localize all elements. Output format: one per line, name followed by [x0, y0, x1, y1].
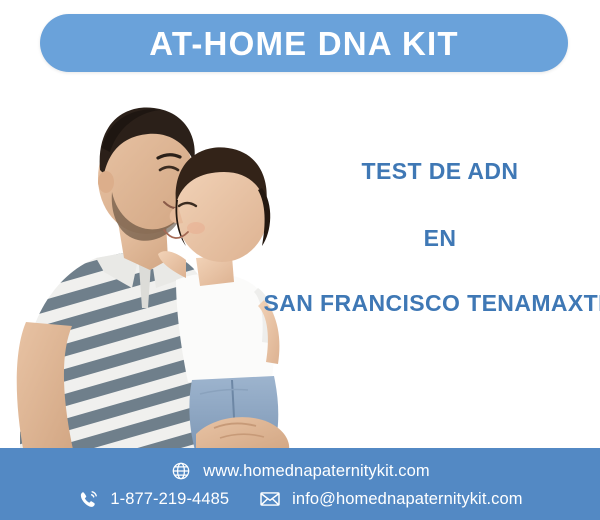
footer-item-phone[interactable]: 1-877-219-4485: [77, 488, 229, 510]
website-text: www.homednapaternitykit.com: [203, 463, 429, 480]
email-text: info@homednapaternitykit.com: [292, 491, 523, 508]
phone-text: 1-877-219-4485: [110, 491, 229, 508]
dna-test-promo-banner: AT-HOME DNA KIT: [0, 0, 600, 520]
contact-footer: www.homednapaternitykit.com 1-877-219-44…: [0, 448, 600, 520]
footer-item-email[interactable]: info@homednapaternitykit.com: [259, 488, 523, 510]
father-and-child-photo: [0, 82, 312, 454]
footer-item-website[interactable]: www.homednapaternitykit.com: [170, 460, 429, 482]
footer-row-website: www.homednapaternitykit.com: [170, 460, 429, 482]
globe-icon: [170, 460, 192, 482]
phone-icon: [77, 488, 99, 510]
at-home-dna-kit-badge: AT-HOME DNA KIT: [40, 14, 568, 72]
badge-label: AT-HOME DNA KIT: [149, 27, 458, 60]
footer-row-contact: 1-877-219-4485 info@homednapaternitykit.…: [77, 488, 522, 510]
envelope-icon: [259, 488, 281, 510]
